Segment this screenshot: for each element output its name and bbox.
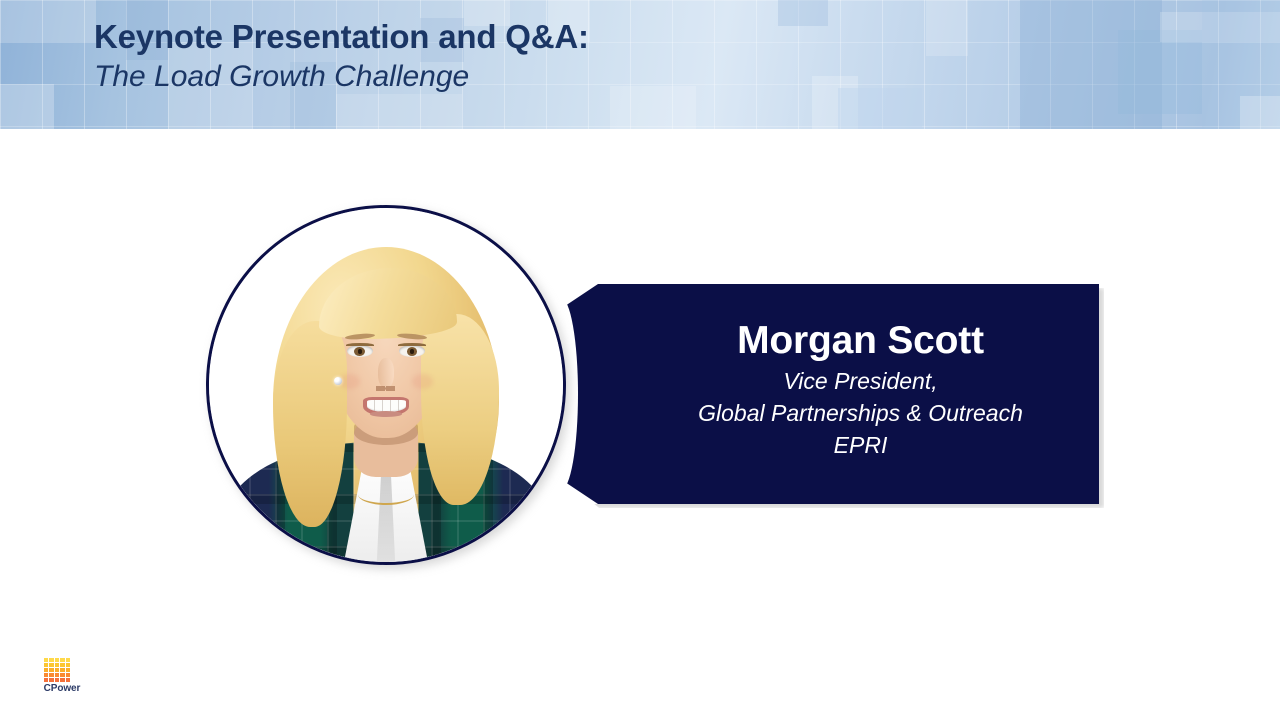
speaker-role-line-2: Global Partnerships & Outreach <box>698 398 1023 430</box>
cpower-dot <box>55 668 59 672</box>
cpower-dot <box>55 658 59 662</box>
cpower-dot <box>49 668 53 672</box>
cpower-dot <box>60 658 64 662</box>
page-title: Keynote Presentation and Q&A: The Load G… <box>94 20 1044 94</box>
portrait-pupil-left <box>358 349 363 354</box>
cpower-dot <box>60 668 64 672</box>
cpower-dot <box>60 678 64 682</box>
cpower-dot-grid-icon <box>44 658 70 682</box>
title-primary: Keynote Presentation and Q&A: <box>94 20 1044 54</box>
cpower-dot <box>44 668 48 672</box>
portrait-nose <box>378 358 394 388</box>
cpower-dot <box>60 673 64 677</box>
portrait-lower-lip <box>370 411 402 417</box>
cpower-dot <box>55 673 59 677</box>
title-subtitle: The Load Growth Challenge <box>94 60 1044 95</box>
card-chamfer-bottom-left <box>562 480 598 504</box>
cpower-dot <box>60 663 64 667</box>
cpower-logo: CPower <box>40 658 84 704</box>
header-mosaic-block <box>1240 96 1280 129</box>
portrait-nostrils <box>376 386 394 391</box>
cpower-dot <box>49 673 53 677</box>
cpower-dot <box>55 678 59 682</box>
slide-canvas: Keynote Presentation and Q&A: The Load G… <box>0 0 1280 720</box>
speaker-photo-frame <box>206 205 566 565</box>
cpower-wordmark: CPower <box>40 683 84 694</box>
cpower-dot <box>44 658 48 662</box>
portrait-teeth-detail <box>367 400 406 412</box>
cpower-dot <box>44 663 48 667</box>
cpower-dot <box>44 678 48 682</box>
slide-footer: CPower Grid Future 2025 <box>0 646 1280 720</box>
portrait-cheek-right <box>412 374 433 388</box>
header-mosaic-block <box>0 84 54 129</box>
speaker-name: Morgan Scott <box>737 320 984 362</box>
header-mosaic-block <box>1118 30 1202 114</box>
header-mosaic-block <box>0 0 96 42</box>
cpower-dot <box>49 663 53 667</box>
speaker-organization: EPRI <box>834 430 888 462</box>
portrait-lash-left <box>346 343 374 347</box>
cpower-dot <box>66 663 70 667</box>
cpower-dot <box>55 663 59 667</box>
cpower-dot <box>49 658 53 662</box>
cpower-dot <box>66 668 70 672</box>
portrait-lash-right <box>398 343 426 347</box>
cpower-dot <box>66 658 70 662</box>
speaker-photo <box>209 208 563 562</box>
speaker-card: Morgan Scott Vice President, Global Part… <box>562 284 1099 504</box>
cpower-dot <box>49 678 53 682</box>
cpower-dot <box>66 678 70 682</box>
speaker-role-line-1: Vice President, <box>783 366 937 398</box>
cpower-dot <box>44 673 48 677</box>
speaker-card-text: Morgan Scott Vice President, Global Part… <box>622 284 1099 504</box>
header-mosaic-block <box>336 94 462 129</box>
cpower-dot <box>66 673 70 677</box>
